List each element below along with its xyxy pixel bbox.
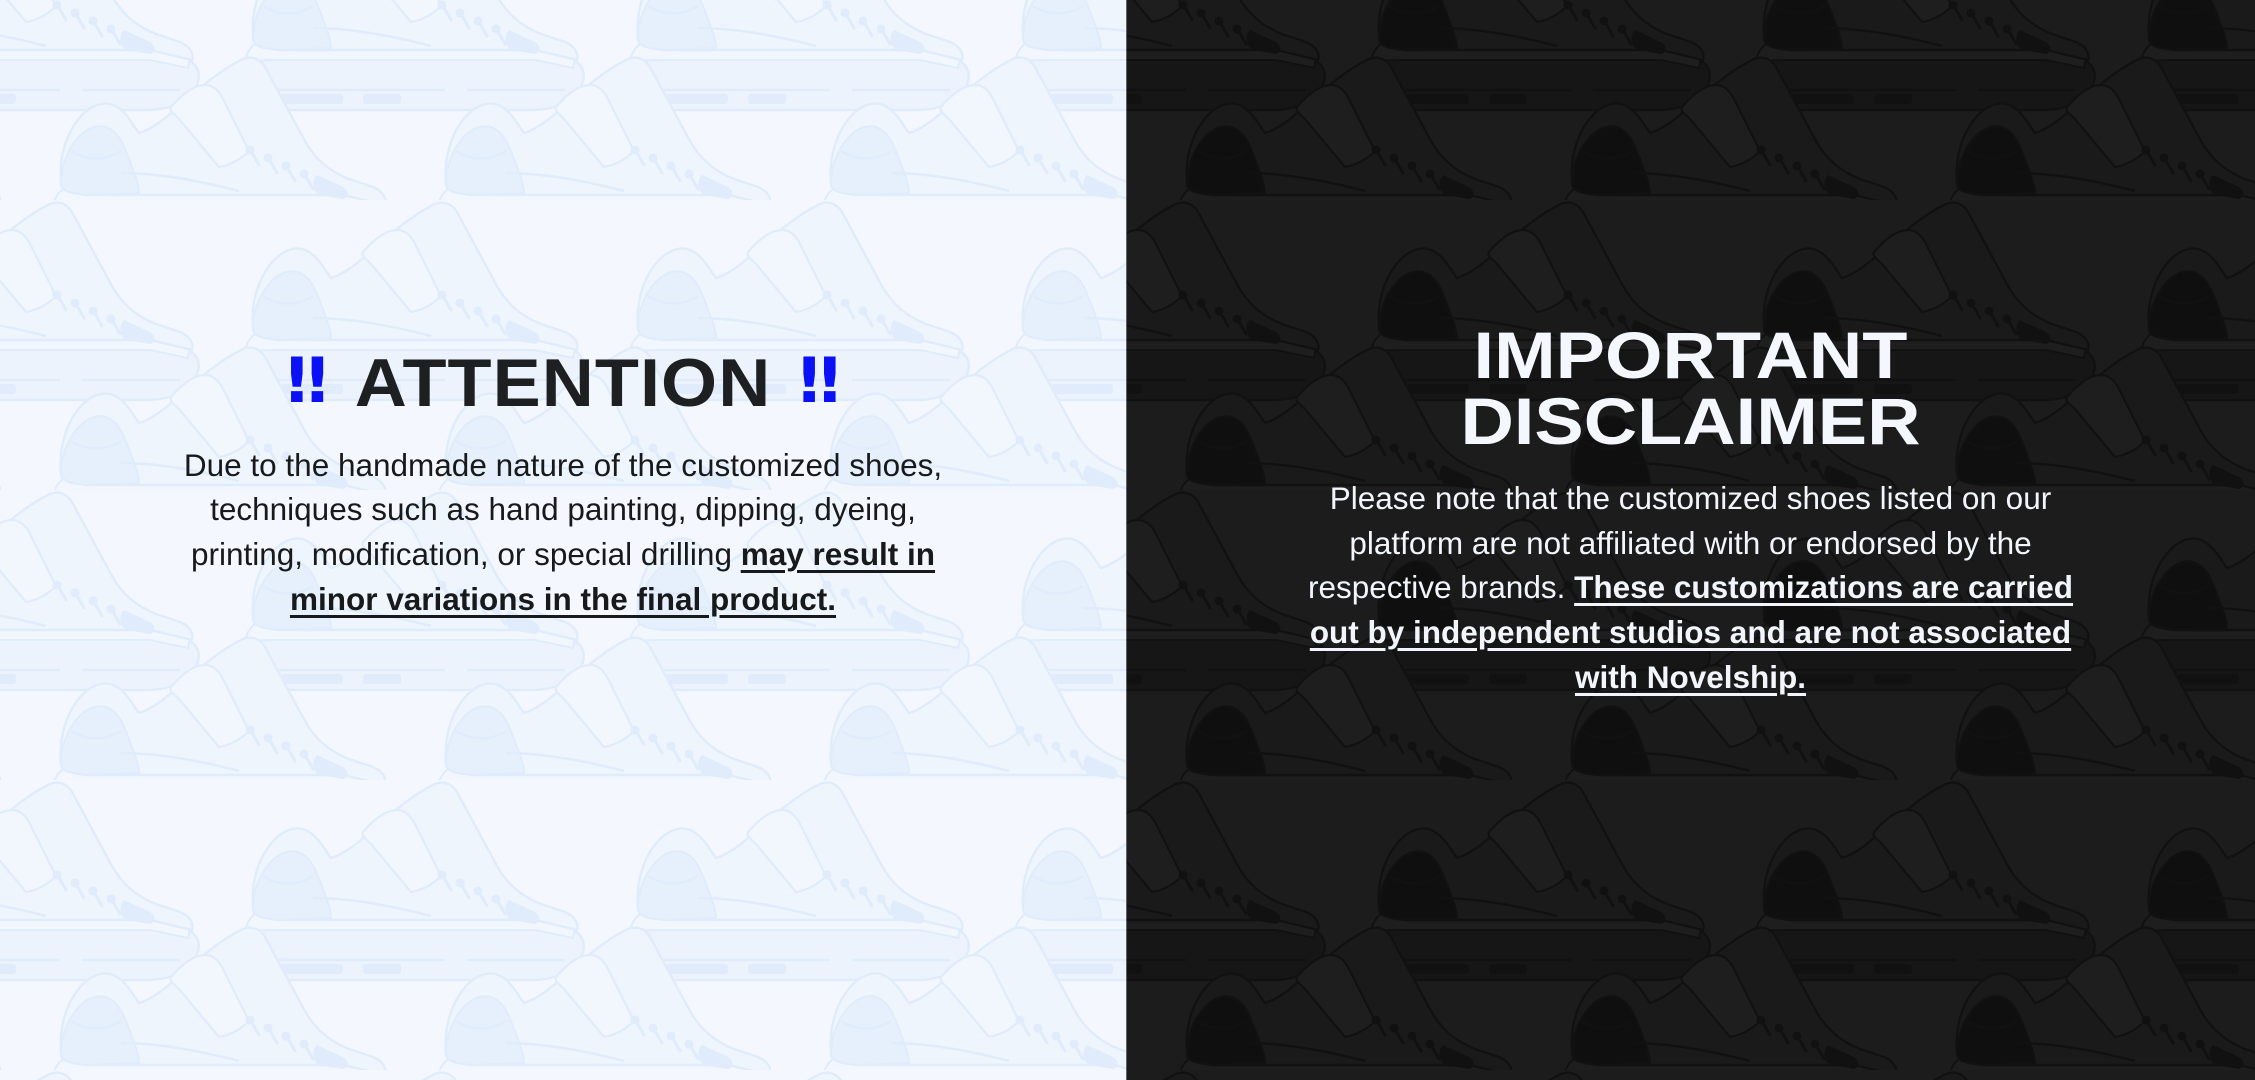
disclaimer-heading-line-1: IMPORTANT (1126, 322, 2255, 388)
attention-heading-word: ATTENTION (355, 350, 772, 417)
disclaimer-content: IMPORTANT DISCLAIMER Please note that th… (1126, 0, 2255, 700)
dual-panel-banner: ‼ ATTENTION ‼ Due to the handmade nature… (0, 0, 2255, 1080)
disclaimer-heading-line-2: DISCLAIMER (1126, 388, 2255, 454)
attention-heading: ‼ ATTENTION ‼ (0, 350, 1126, 417)
attention-content: ‼ ATTENTION ‼ Due to the handmade nature… (0, 0, 1126, 622)
attention-body-text: Due to the handmade nature of the custom… (168, 443, 958, 622)
disclaimer-panel: IMPORTANT DISCLAIMER Please note that th… (1126, 0, 2255, 1080)
double-exclamation-mark-icon-right: ‼ (799, 350, 840, 412)
disclaimer-body-text: Please note that the customized shoes li… (1291, 476, 2091, 700)
disclaimer-heading: IMPORTANT DISCLAIMER (1126, 322, 2255, 454)
attention-panel: ‼ ATTENTION ‼ Due to the handmade nature… (0, 0, 1126, 1080)
double-exclamation-mark-icon-left: ‼ (286, 350, 327, 412)
panel-divider (1126, 0, 1127, 1080)
